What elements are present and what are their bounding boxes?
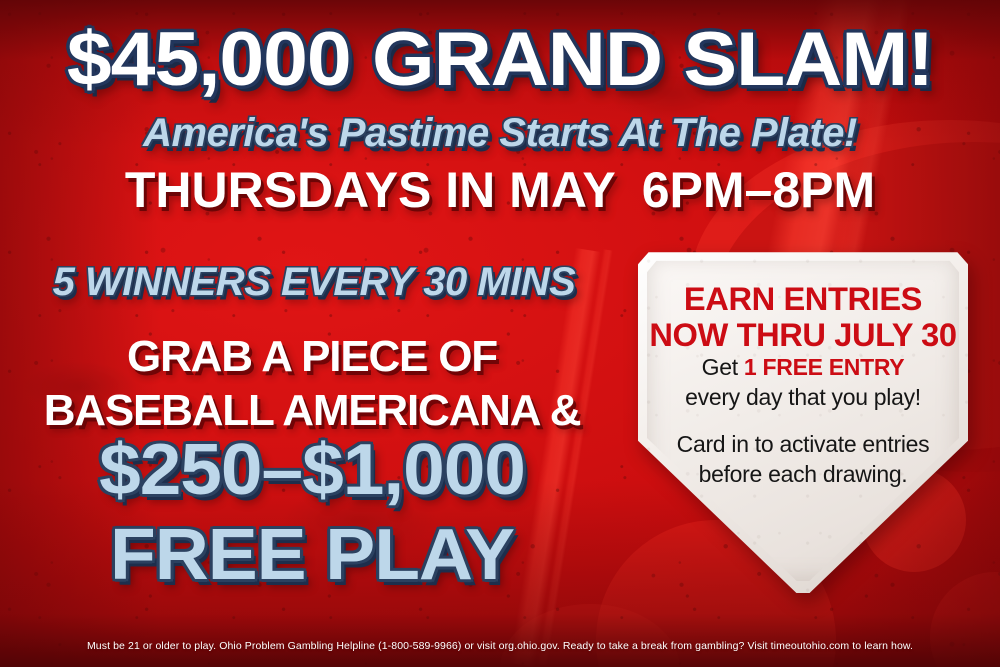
schedule-hours: 6PM–8PM <box>642 162 875 218</box>
card-in-line-2: before each drawing. <box>638 460 968 490</box>
offer-description: GRAB A PIECE OF BASEBALL AMERICANA & <box>6 330 618 437</box>
home-plate-content: EARN ENTRIES NOW THRU JULY 30 Get 1 FREE… <box>638 247 968 593</box>
earn-entries-heading-line-1: EARN ENTRIES <box>635 282 972 318</box>
home-plate-callout: EARN ENTRIES NOW THRU JULY 30 Get 1 FREE… <box>638 247 968 593</box>
free-entry-highlight: 1 FREE ENTRY <box>744 354 904 380</box>
earn-entries-heading: EARN ENTRIES NOW THRU JULY 30 <box>635 282 972 354</box>
earn-entries-body: Get 1 FREE ENTRY every day that you play… <box>638 353 968 490</box>
legal-disclaimer: Must be 21 or older to play. Ohio Proble… <box>0 640 1000 653</box>
schedule-days: THURSDAYS IN MAY <box>125 162 616 218</box>
free-entry-subline: every day that you play! <box>638 383 968 413</box>
prize-amount: $250–$1,000 <box>0 428 630 513</box>
card-in-line-1: Card in to activate entries <box>638 430 968 460</box>
promo-schedule: THURSDAYS IN MAY6PM–8PM <box>0 165 1000 215</box>
poster-text-layer: $45,000 GRAND SLAM! America's Pastime St… <box>0 0 1000 667</box>
winners-frequency-line: 5 WINNERS EVERY 30 MINS <box>14 262 614 302</box>
promo-subheadline: America's Pastime Starts At The Plate! <box>0 113 1000 153</box>
promo-poster: $45,000 GRAND SLAM! America's Pastime St… <box>0 0 1000 667</box>
offer-line-1: GRAB A PIECE OF <box>6 330 618 384</box>
prize-label: FREE PLAY <box>0 513 630 598</box>
free-entry-line: Get 1 FREE ENTRY <box>638 353 968 383</box>
promo-headline: $45,000 GRAND SLAM! <box>0 22 1000 98</box>
prize-amount-block: $250–$1,000 FREE PLAY <box>0 428 630 598</box>
earn-entries-heading-line-2: NOW THRU JULY 30 <box>635 318 972 354</box>
free-entry-prefix: Get <box>702 354 738 380</box>
